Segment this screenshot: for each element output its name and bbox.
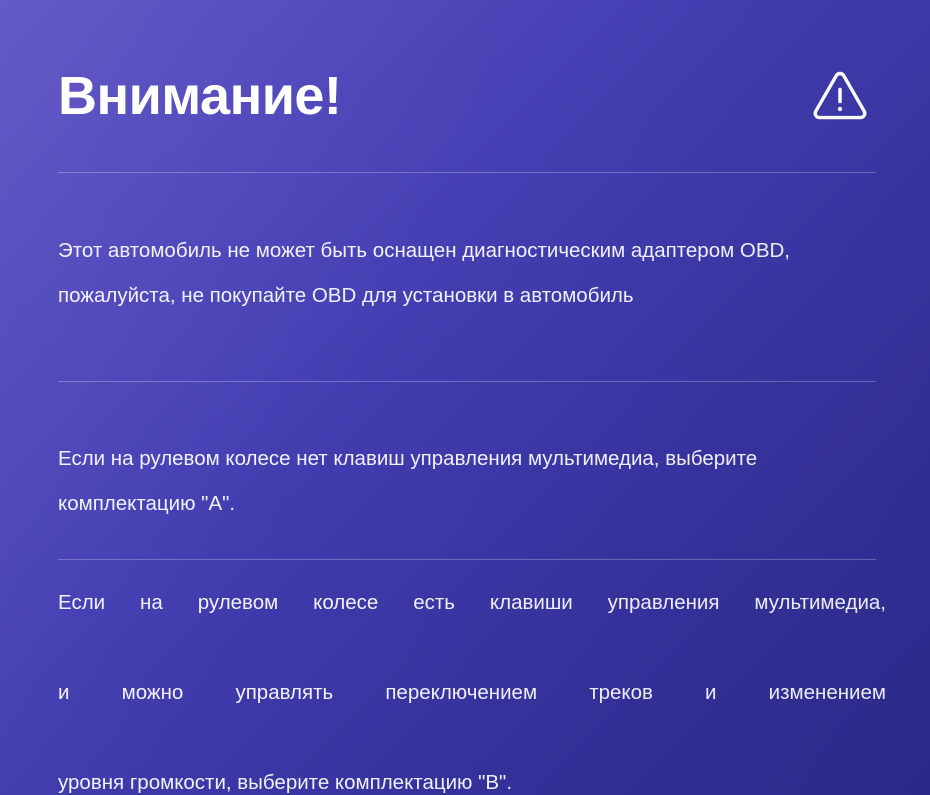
- page-title: Внимание!: [58, 69, 341, 123]
- divider: [58, 559, 876, 560]
- notice-variant-b-line-3: уровня громкости, выберите комплектацию …: [58, 760, 886, 795]
- divider: [58, 381, 876, 382]
- warning-notice-card: Внимание! Этот автомобиль не может быть …: [0, 0, 930, 795]
- notice-variant-a: Если на рулевом колесе нет клавиш управл…: [58, 436, 886, 526]
- notice-variant-b-line-1: Если на рулевом колесе есть клавиши упра…: [58, 580, 886, 670]
- notice-obd-not-supported: Этот автомобиль не может быть оснащен ди…: [58, 228, 886, 318]
- notice-variant-b-line-2: и можно управлять переключением треков и…: [58, 670, 886, 760]
- divider: [58, 172, 876, 173]
- card-header: Внимание!: [58, 48, 890, 144]
- notice-variant-b: Если на рулевом колесе есть клавиши упра…: [58, 580, 886, 795]
- warning-triangle-icon: [812, 69, 868, 125]
